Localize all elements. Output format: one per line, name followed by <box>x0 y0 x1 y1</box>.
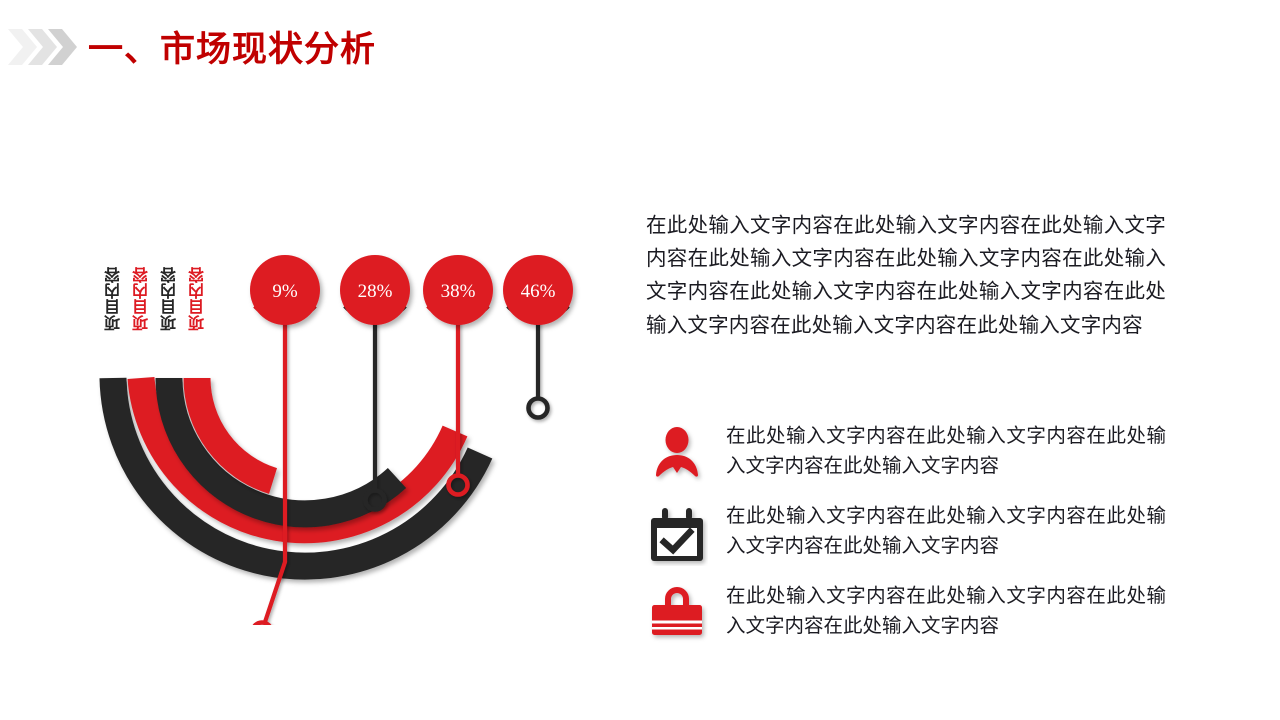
user-icon <box>646 424 708 486</box>
briefcase-icon <box>646 584 708 646</box>
value-label-28: 28% <box>335 281 415 303</box>
page-title: 一、市场现状分析 <box>88 21 376 72</box>
value-label-38: 38% <box>418 281 498 303</box>
list-item: 在此处输入文字内容在此处输入文字内容在此处输入文字内容在此处输入文字内容 <box>646 502 1166 582</box>
list-item-text: 在此处输入文字内容在此处输入文字内容在此处输入文字内容在此处输入文字内容 <box>708 502 1166 561</box>
radial-bar-chart: 9% 28% 38% 46% 项目内容 项目内容 项目内容 项目内容 <box>60 245 620 625</box>
calendar-check-icon <box>646 504 708 566</box>
content-column: 在此处输入文字内容在此处输入文字内容在此处输入文字内容在此处输入文字内容在此处输… <box>646 210 1166 343</box>
category-label-1: 项目内容 <box>107 267 123 331</box>
category-label-3: 项目内容 <box>163 267 179 331</box>
body-paragraph: 在此处输入文字内容在此处输入文字内容在此处输入文字内容在此处输入文字内容在此处输… <box>646 210 1166 343</box>
list-item-text: 在此处输入文字内容在此处输入文字内容在此处输入文字内容在此处输入文字内容 <box>708 422 1166 481</box>
list-item: 在此处输入文字内容在此处输入文字内容在此处输入文字内容在此处输入文字内容 <box>646 422 1166 502</box>
value-label-9: 9% <box>245 281 325 303</box>
slide-header: 一、市场现状分析 <box>0 0 1280 92</box>
leader-endpoint-9 <box>253 623 272 626</box>
category-label-2: 项目内容 <box>135 267 151 331</box>
value-label-46: 46% <box>498 281 578 303</box>
chevron-group-icon <box>6 27 78 67</box>
category-label-4: 项目内容 <box>191 267 207 331</box>
list-item: 在此处输入文字内容在此处输入文字内容在此处输入文字内容在此处输入文字内容 <box>646 582 1166 662</box>
bullet-list: 在此处输入文字内容在此处输入文字内容在此处输入文字内容在此处输入文字内容 <box>646 422 1166 662</box>
list-item-text: 在此处输入文字内容在此处输入文字内容在此处输入文字内容在此处输入文字内容 <box>708 582 1166 641</box>
slide-canvas: 一、市场现状分析 <box>0 0 1280 720</box>
leader-endpoint-46 <box>529 399 548 418</box>
